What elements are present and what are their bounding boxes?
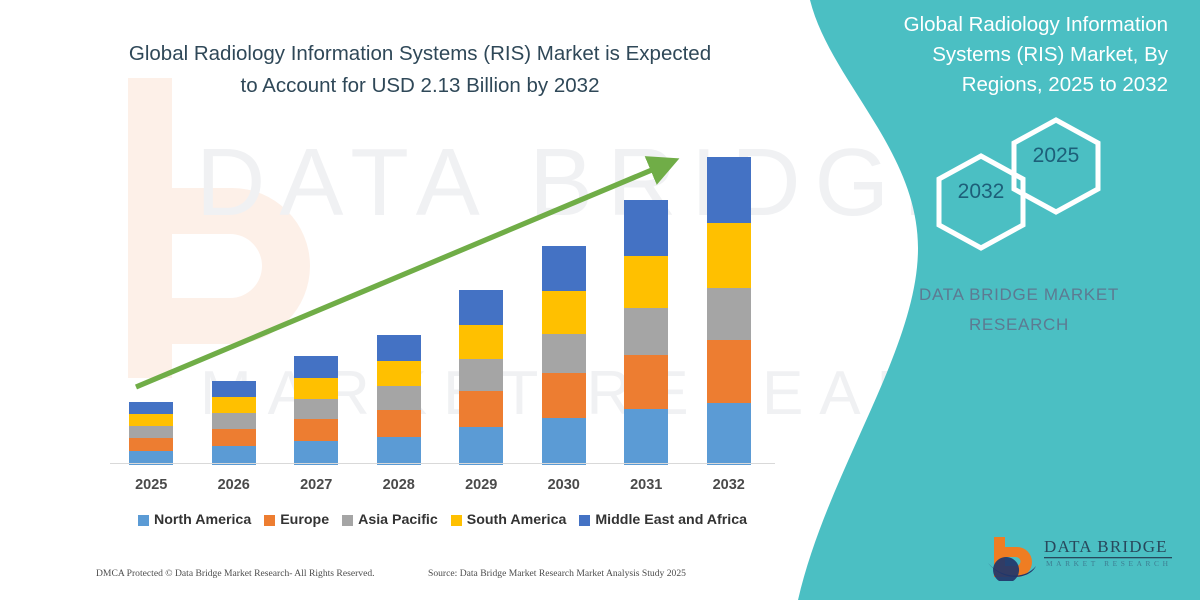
x-axis-label: 2026 — [199, 477, 269, 493]
bar-group — [707, 157, 751, 465]
x-axis-line — [110, 463, 775, 464]
footer-copyright: DMCA Protected © Data Bridge Market Rese… — [96, 568, 375, 579]
bar-segment — [707, 288, 751, 340]
bar-segment — [707, 340, 751, 403]
bar-segment — [129, 402, 173, 414]
bar-segment — [129, 414, 173, 426]
bar-segment — [212, 413, 256, 429]
panel-brand-name: DATA BRIDGE MARKET RESEARCH — [894, 280, 1144, 340]
legend-label: Asia Pacific — [358, 512, 438, 528]
x-axis-label: 2031 — [611, 477, 681, 493]
legend-item[interactable]: North America — [138, 512, 251, 528]
legend-item[interactable]: Middle East and Africa — [579, 512, 747, 528]
bar-segment — [542, 418, 586, 465]
x-axis-label: 2027 — [281, 477, 351, 493]
legend-swatch-icon — [579, 515, 590, 526]
infographic-root: DATA BRIDGE MARKET RESEARCH Global Radio… — [0, 0, 1200, 600]
dbmr-b-mark-icon — [986, 533, 1040, 581]
x-axis-label: 2029 — [446, 477, 516, 493]
legend-item[interactable]: Asia Pacific — [342, 512, 438, 528]
bar-segment — [707, 157, 751, 223]
dbmr-logo-rule — [1044, 557, 1172, 559]
bar-segment — [294, 441, 338, 465]
bar-group — [129, 402, 173, 465]
growth-arrow-icon — [110, 140, 710, 400]
dbmr-logo: DATA BRIDGE MARKET RESEARCH — [986, 533, 1186, 585]
footer-source: Source: Data Bridge Market Research Mark… — [428, 568, 686, 579]
dbmr-logo-name: DATA BRIDGE — [1044, 537, 1168, 557]
bar-segment — [459, 427, 503, 465]
dbmr-logo-tagline: MARKET RESEARCH — [1046, 559, 1172, 568]
x-axis-label: 2030 — [529, 477, 599, 493]
legend-label: Middle East and Africa — [595, 512, 747, 528]
x-axis-label: 2032 — [694, 477, 764, 493]
bar-segment — [377, 437, 421, 465]
legend-swatch-icon — [451, 515, 462, 526]
bar-segment — [212, 429, 256, 446]
hexagon-end-year-label: 2032 — [933, 180, 1029, 204]
panel-title: Global Radiology Information Systems (RI… — [848, 10, 1168, 100]
bar-segment — [129, 438, 173, 451]
legend-swatch-icon — [138, 515, 149, 526]
x-axis-labels: 20252026202720282029203020312032 — [110, 472, 775, 498]
bar-segment — [707, 223, 751, 288]
x-axis-label: 2025 — [116, 477, 186, 493]
bar-segment — [294, 419, 338, 441]
bar-segment — [129, 426, 173, 438]
bar-segment — [377, 410, 421, 437]
chart-legend: North AmericaEuropeAsia PacificSouth Ame… — [110, 512, 775, 528]
legend-swatch-icon — [342, 515, 353, 526]
bar-segment — [624, 409, 668, 465]
legend-item[interactable]: Europe — [264, 512, 329, 528]
bar-segment — [707, 403, 751, 465]
legend-swatch-icon — [264, 515, 275, 526]
x-axis-label: 2028 — [364, 477, 434, 493]
legend-label: South America — [467, 512, 567, 528]
legend-label: North America — [154, 512, 251, 528]
hexagon-end-year: 2032 — [933, 152, 1029, 257]
legend-item[interactable]: South America — [451, 512, 567, 528]
bar-segment — [294, 399, 338, 419]
legend-label: Europe — [280, 512, 329, 528]
chart-title: Global Radiology Information Systems (RI… — [120, 38, 720, 102]
